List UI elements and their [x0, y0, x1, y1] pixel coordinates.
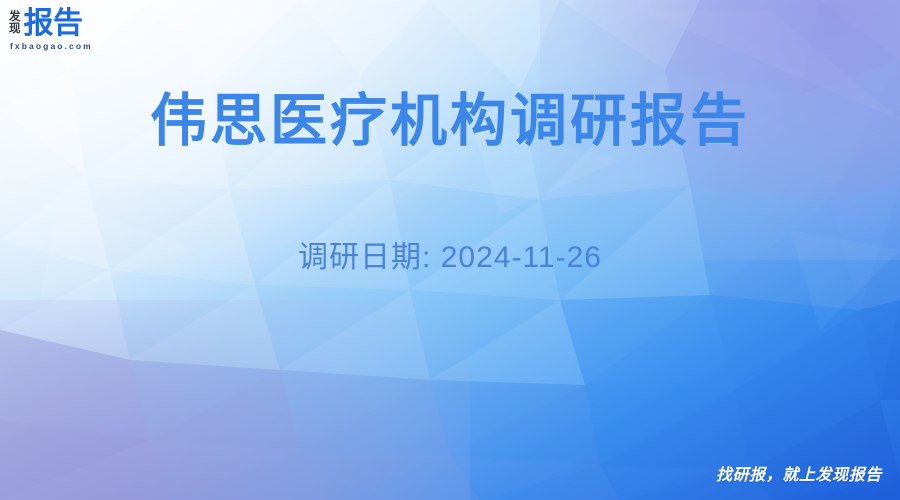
site-logo[interactable]: 发 现 报告 fxbaogao.com	[9, 9, 93, 51]
logo-wordmark: 报告	[24, 9, 83, 39]
report-cover: 发 现 报告 fxbaogao.com 伟思医疗机构调研报告 调研日期: 202…	[0, 0, 900, 500]
logo-wordmark-row: 发 现 报告	[9, 9, 83, 39]
logo-url: fxbaogao.com	[10, 41, 93, 51]
logo-mark-char-2: 现	[9, 24, 21, 36]
logo-mark-stacked: 发 现	[9, 12, 21, 35]
survey-date-subtitle: 调研日期: 2024-11-26	[0, 232, 900, 276]
page-title: 伟思医疗机构调研报告	[0, 88, 900, 155]
brand-tagline: 找研报，就上发现报告	[716, 461, 882, 485]
